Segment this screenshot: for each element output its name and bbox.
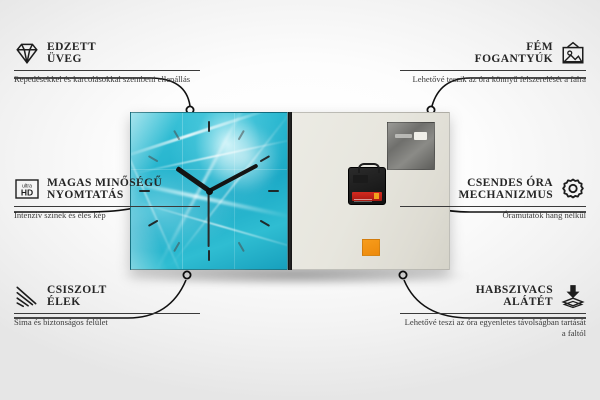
feature-title-line2: NYOMTATÁS	[47, 189, 162, 201]
feature-title-line2: FOGANTYÚK	[475, 53, 553, 65]
feature-subtitle: Repedésekkel és karcolásokkal szembeni e…	[14, 74, 200, 85]
feature-print: ultra HD MAGAS MINŐSÉGŰ NYOMTATÁS Intenz…	[14, 176, 200, 221]
foam-pad	[362, 239, 380, 256]
polished-edges-icon	[14, 283, 40, 309]
feature-title-line2: MECHANIZMUS	[459, 189, 554, 201]
feature-subtitle: Lehetővé teszik az óra könnyű felszerelé…	[400, 74, 586, 85]
feature-subtitle: Lehetővé teszi az óra egyenletes távolsá…	[400, 317, 586, 339]
battery-label	[354, 199, 372, 200]
feature-foam: HABSZIVACS ALÁTÉT Lehetővé teszi az óra …	[400, 283, 586, 339]
feature-title-line1: FÉM	[475, 41, 553, 53]
feature-title-line1: HABSZIVACS	[476, 284, 553, 296]
feature-title-line2: ÜVEG	[47, 53, 96, 65]
svg-text:HD: HD	[21, 188, 33, 198]
feature-title-line2: ÉLEK	[47, 296, 107, 308]
second-hand	[208, 191, 210, 247]
feature-edges: CSISZOLT ÉLEK Sima és biztonságos felüle…	[14, 283, 200, 328]
feature-title-line1: MAGAS MINŐSÉGŰ	[47, 177, 162, 189]
feature-subtitle: Sima és biztonságos felület	[14, 317, 200, 328]
divider	[14, 313, 200, 314]
divider	[400, 70, 586, 71]
clock-tick	[209, 190, 279, 192]
ultra-hd-icon: ultra HD	[14, 176, 40, 202]
divider	[14, 206, 200, 207]
feature-subtitle: Intenzív színek és éles kép	[14, 210, 200, 221]
feature-title-line1: CSISZOLT	[47, 284, 107, 296]
feature-mechanism: CSENDES ÓRA MECHANIZMUS Óramutatók hang …	[400, 176, 586, 221]
hands-cap	[206, 188, 213, 195]
feature-title-line1: CSENDES ÓRA	[459, 177, 554, 189]
diamond-icon	[14, 40, 40, 66]
feature-title-line2: ALÁTÉT	[476, 296, 553, 308]
divider	[400, 313, 586, 314]
feature-handles: FÉM FOGANTYÚK Lehetővé teszik az óra kön…	[400, 40, 586, 85]
gear-icon	[560, 176, 586, 202]
infographic-canvas: EDZETT ÜVEG Repedésekkel és karcolásokka…	[0, 0, 600, 400]
metal-hanger-bracket	[387, 122, 435, 170]
mechanism-slot	[353, 175, 368, 183]
feature-subtitle: Óramutatók hang nélkül	[400, 210, 586, 221]
foam-pad-icon	[560, 283, 586, 309]
clock-mechanism	[348, 167, 386, 205]
divider	[400, 206, 586, 207]
battery	[352, 192, 382, 201]
divider	[14, 70, 200, 71]
clock-tick	[208, 121, 210, 191]
feature-title-line1: EDZETT	[47, 41, 96, 53]
picture-hanger-icon	[560, 40, 586, 66]
mechanism-bail	[358, 163, 380, 173]
feature-glass: EDZETT ÜVEG Repedésekkel és karcolásokka…	[14, 40, 200, 85]
